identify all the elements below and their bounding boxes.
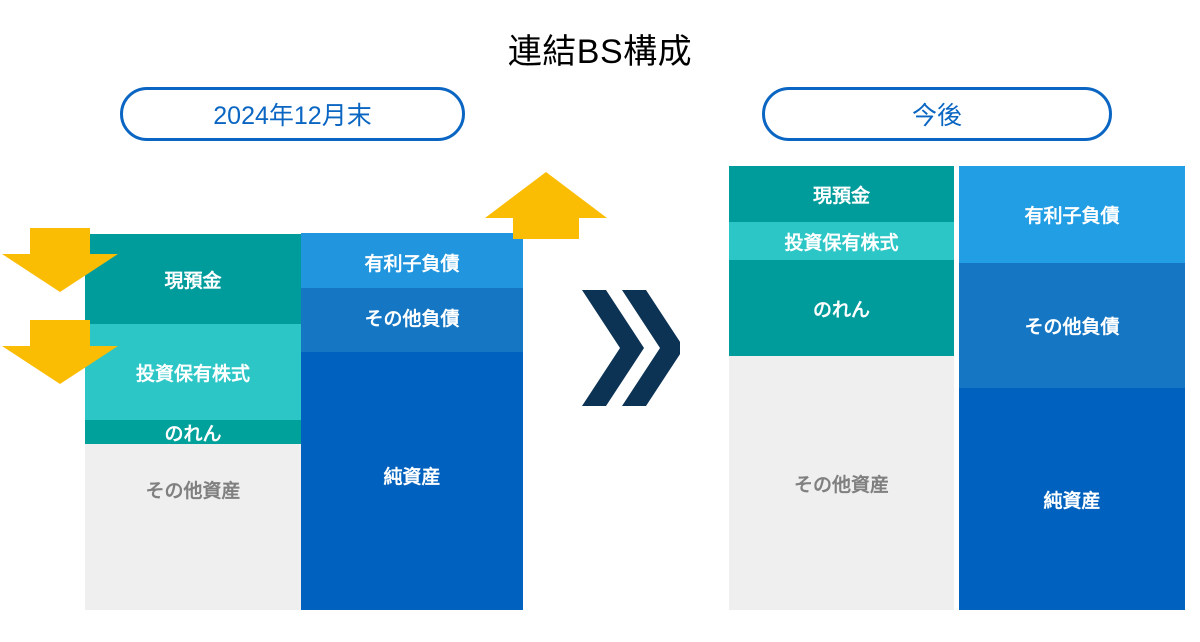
increase-debt-arrow [483,170,609,240]
left-liability-interest-bearing-debt: 有利子負債 [301,233,523,288]
left-asset-goodwill: のれん [85,420,301,444]
label-pill-future-period: 今後 [762,87,1112,141]
right-liability-net-assets: 純資産 [959,388,1185,610]
transition-chevrons [580,288,680,408]
decrease-cash-arrow [0,228,120,294]
right-asset-goodwill: のれん [729,260,954,356]
decrease-securities-arrow [0,320,120,386]
right-asset-cash-and-deposits: 現預金 [729,166,954,222]
left-liability-other-liabilities: その他負債 [301,288,523,352]
right-asset-other-assets: その他資産 [729,356,954,610]
page-title: 連結BS構成 [0,24,1200,73]
slide-canvas: 連結BS構成 2024年12月末 今後 現預金 投資保有株式 のれん その他資産… [0,0,1200,642]
left-asset-other-assets: その他資産 [85,444,301,610]
label-pill-current-period: 2024年12月末 [120,87,465,141]
right-asset-investment-securities: 投資保有株式 [729,222,954,260]
right-liability-interest-bearing-debt: 有利子負債 [959,166,1185,263]
left-liability-net-assets: 純資産 [301,352,523,610]
right-liability-other-liabilities: その他負債 [959,263,1185,388]
